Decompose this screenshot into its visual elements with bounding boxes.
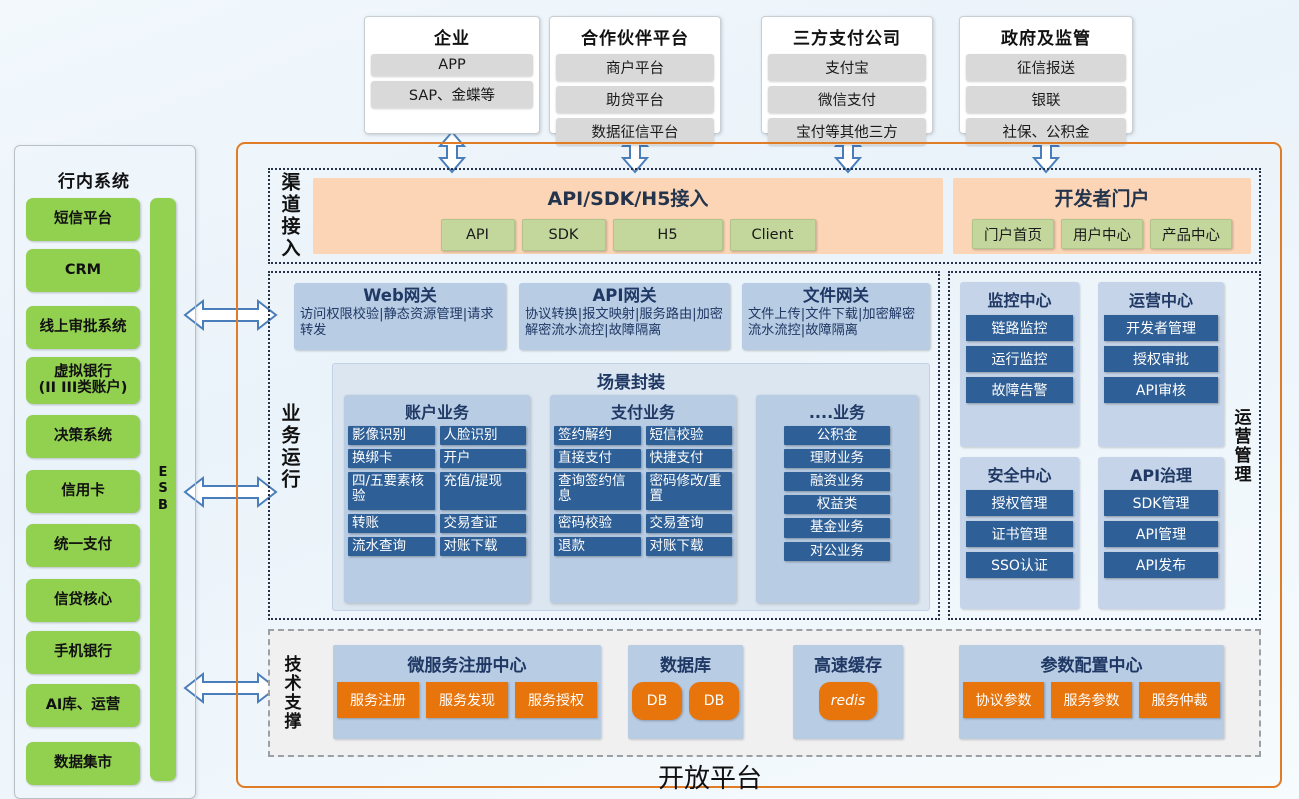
business-chip[interactable]: 快捷支付 bbox=[646, 449, 733, 468]
external-party-item[interactable]: 银联 bbox=[966, 86, 1126, 113]
business-chip[interactable]: 交易查证 bbox=[440, 514, 527, 533]
database-icon[interactable]: DB bbox=[689, 682, 739, 720]
external-party-item[interactable]: 社保、公积金 bbox=[966, 118, 1126, 145]
external-party-title: 合作伙伴平台 bbox=[581, 24, 689, 49]
internal-system-label: 信用卡 bbox=[61, 484, 105, 500]
internal-system-6[interactable]: 统一支付 bbox=[26, 524, 140, 567]
tech-chip[interactable]: 服务注册 bbox=[337, 682, 419, 718]
internal-system-label: 手机银行 bbox=[54, 645, 112, 661]
business-chip[interactable]: 理财业务 bbox=[784, 449, 890, 468]
channel-access-label: 渠道接入 bbox=[276, 172, 304, 260]
api-sdk-h5-access-card: API/SDK/H5接入 API SDK H5 Client bbox=[313, 178, 943, 254]
gateway-card-web[interactable]: Web网关 访问权限校验|静态资源管理|请求转发 bbox=[294, 283, 506, 350]
internal-system-1[interactable]: CRM bbox=[26, 249, 140, 292]
business-chip[interactable]: 密码校验 bbox=[554, 514, 641, 533]
business-chip[interactable]: 短信校验 bbox=[646, 426, 733, 445]
external-party-title: 企业 bbox=[434, 24, 470, 49]
ops-card-operations: 运营中心 开发者管理 授权审批 API审核 bbox=[1098, 282, 1224, 447]
external-party-card-3[interactable]: 政府及监管 征信报送 银联 社保、公积金 bbox=[959, 16, 1133, 134]
gateway-card-file[interactable]: 文件网关 文件上传|文件下载|加密解密流水流控|故障隔离 bbox=[742, 283, 930, 350]
developer-portal-title: 开发者门户 bbox=[953, 184, 1251, 211]
external-party-item[interactable]: 数据征信平台 bbox=[556, 118, 714, 145]
internal-system-label: CRM bbox=[65, 263, 101, 279]
tech-card-title: 微服务注册中心 bbox=[337, 651, 597, 676]
esb-bus[interactable]: E S B bbox=[150, 198, 176, 781]
external-party-item[interactable]: SAP、金蝶等 bbox=[371, 81, 533, 108]
channel-chip-client[interactable]: Client bbox=[730, 219, 816, 251]
internal-system-2[interactable]: 线上审批系统 bbox=[26, 306, 140, 349]
channel-chip-sdk[interactable]: SDK bbox=[522, 219, 606, 251]
internal-system-label: 数据集市 bbox=[54, 756, 112, 772]
ops-card-title: 安全中心 bbox=[966, 462, 1073, 486]
portal-chip-home[interactable]: 门户首页 bbox=[972, 219, 1054, 249]
tech-card-cache: 高速缓存 redis bbox=[793, 645, 903, 739]
tech-card-title: 参数配置中心 bbox=[963, 651, 1220, 676]
esb-label-s: S bbox=[158, 481, 167, 497]
internal-system-8[interactable]: 手机银行 bbox=[26, 631, 140, 674]
gateway-title: API网关 bbox=[525, 286, 724, 306]
business-card-title: 支付业务 bbox=[554, 399, 732, 423]
esb-label-e: E bbox=[159, 465, 168, 481]
developer-portal-card: 开发者门户 门户首页 用户中心 产品中心 bbox=[953, 178, 1251, 254]
business-chip[interactable]: 四/五要素核验 bbox=[348, 472, 435, 510]
external-party-item[interactable]: 支付宝 bbox=[768, 54, 926, 81]
business-chip[interactable]: 密码修改/重置 bbox=[646, 472, 733, 510]
tech-card-microservice-registry: 微服务注册中心 服务注册 服务发现 服务授权 bbox=[333, 645, 601, 739]
channel-chip-api[interactable]: API bbox=[441, 219, 515, 251]
ops-management-label: 运营管理 bbox=[1228, 386, 1254, 506]
external-party-card-0[interactable]: 企业 APP SAP、金蝶等 bbox=[364, 16, 540, 134]
business-chip[interactable]: 交易查询 bbox=[646, 514, 733, 533]
external-party-item[interactable]: APP bbox=[371, 54, 533, 76]
esb-label-b: B bbox=[158, 498, 168, 514]
internal-system-label: 统一支付 bbox=[54, 538, 112, 554]
ops-chip[interactable]: API管理 bbox=[1104, 521, 1218, 547]
business-card-other: ....业务 公积金 理财业务 融资业务 权益类 基金业务 对公业务 bbox=[756, 395, 918, 603]
portal-chip-user-center[interactable]: 用户中心 bbox=[1061, 219, 1143, 249]
ops-chip[interactable]: API发布 bbox=[1104, 552, 1218, 578]
business-chip[interactable]: 转账 bbox=[348, 514, 435, 533]
redis-icon[interactable]: redis bbox=[819, 682, 877, 720]
database-icon[interactable]: DB bbox=[632, 682, 682, 720]
gateway-desc: 访问权限校验|静态资源管理|请求转发 bbox=[300, 307, 500, 339]
tech-card-title: 数据库 bbox=[632, 651, 739, 676]
business-chip[interactable]: 对公业务 bbox=[784, 542, 890, 561]
internal-system-7[interactable]: 信贷核心 bbox=[26, 579, 140, 622]
ops-chip[interactable]: SSO认证 bbox=[966, 552, 1073, 578]
external-party-title: 三方支付公司 bbox=[793, 24, 901, 49]
tech-chip[interactable]: 服务参数 bbox=[1051, 682, 1132, 718]
business-card-account: 账户业务 影像识别 换绑卡 四/五要素核验 转账 流水查询 人脸识别 开户 充值… bbox=[344, 395, 530, 603]
api-sdk-h5-title: API/SDK/H5接入 bbox=[313, 184, 943, 211]
business-chip[interactable]: 权益类 bbox=[784, 495, 890, 514]
ops-chip[interactable]: 开发者管理 bbox=[1104, 315, 1218, 341]
gateway-desc: 协议转换|报文映射|服务路由|加密解密流水流控|故障隔离 bbox=[525, 307, 724, 339]
tech-support-label: 技术支撑 bbox=[278, 638, 304, 748]
business-card-payment: 支付业务 签约解约 直接支付 查询签约信息 密码校验 退款 短信校验 快捷支付 … bbox=[550, 395, 736, 603]
channel-chip-h5[interactable]: H5 bbox=[613, 219, 723, 251]
portal-chip-product-center[interactable]: 产品中心 bbox=[1150, 219, 1232, 249]
business-chip[interactable]: 影像识别 bbox=[348, 426, 435, 445]
business-chip[interactable]: 签约解约 bbox=[554, 426, 641, 445]
external-party-item[interactable]: 助贷平台 bbox=[556, 86, 714, 113]
ops-chip[interactable]: 授权审批 bbox=[1104, 346, 1218, 372]
internal-system-10[interactable]: 数据集市 bbox=[26, 742, 140, 785]
internal-system-label: 决策系统 bbox=[54, 429, 112, 445]
ops-card-title: API治理 bbox=[1104, 462, 1218, 486]
scene-encapsulation-title: 场景封装 bbox=[333, 368, 929, 393]
ops-card-title: 运营中心 bbox=[1104, 287, 1218, 311]
business-chip[interactable]: 融资业务 bbox=[784, 472, 890, 491]
tech-chip[interactable]: 服务发现 bbox=[426, 682, 508, 718]
tech-card-database: 数据库 DB DB bbox=[628, 645, 743, 739]
ops-chip[interactable]: API审核 bbox=[1104, 377, 1218, 403]
internal-system-label: 短信平台 bbox=[54, 212, 112, 228]
ops-card-title: 监控中心 bbox=[966, 287, 1073, 311]
business-chip[interactable]: 充值/提现 bbox=[440, 472, 527, 510]
ops-chip[interactable]: 证书管理 bbox=[966, 521, 1073, 547]
tech-chip[interactable]: 服务授权 bbox=[515, 682, 597, 718]
business-chip[interactable]: 人脸识别 bbox=[440, 426, 527, 445]
internal-system-label: 虚拟银行 (II III类账户) bbox=[39, 365, 128, 396]
external-party-item[interactable]: 微信支付 bbox=[768, 86, 926, 113]
business-running-label: 业务运行 bbox=[276, 382, 304, 512]
tech-chip[interactable]: 协议参数 bbox=[963, 682, 1044, 718]
internal-system-label: AI库、运营 bbox=[46, 698, 121, 714]
internal-system-5[interactable]: 信用卡 bbox=[26, 470, 140, 513]
external-party-item[interactable]: 宝付等其他三方 bbox=[768, 118, 926, 145]
internal-system-0[interactable]: 短信平台 bbox=[26, 198, 140, 241]
ops-chip[interactable]: 运行监控 bbox=[966, 346, 1073, 372]
business-chip[interactable]: 开户 bbox=[440, 449, 527, 468]
tech-card-title: 高速缓存 bbox=[797, 651, 899, 676]
ops-card-security: 安全中心 授权管理 证书管理 SSO认证 bbox=[960, 457, 1079, 609]
external-party-card-2[interactable]: 三方支付公司 支付宝 微信支付 宝付等其他三方 bbox=[761, 16, 933, 134]
tech-card-config-center: 参数配置中心 协议参数 服务参数 服务仲裁 bbox=[959, 645, 1224, 739]
business-chip[interactable]: 直接支付 bbox=[554, 449, 641, 468]
internal-system-3[interactable]: 虚拟银行 (II III类账户) bbox=[26, 357, 140, 404]
business-chip[interactable]: 查询签约信息 bbox=[554, 472, 641, 510]
ops-chip[interactable]: 故障告警 bbox=[966, 377, 1073, 403]
internal-system-label: 信贷核心 bbox=[54, 593, 112, 609]
internal-system-label: 线上审批系统 bbox=[40, 320, 127, 336]
gateway-title: Web网关 bbox=[300, 286, 500, 306]
business-chip[interactable]: 换绑卡 bbox=[348, 449, 435, 468]
business-chip[interactable]: 流水查询 bbox=[348, 537, 435, 556]
business-card-title: 账户业务 bbox=[348, 399, 526, 423]
internal-system-4[interactable]: 决策系统 bbox=[26, 415, 140, 458]
internal-system-9[interactable]: AI库、运营 bbox=[26, 684, 140, 727]
business-chip[interactable]: 公积金 bbox=[784, 426, 890, 445]
internal-systems-title: 行内系统 bbox=[24, 167, 164, 192]
business-chip[interactable]: 基金业务 bbox=[784, 518, 890, 537]
business-chip[interactable]: 对账下载 bbox=[440, 537, 527, 556]
ops-chip[interactable]: 授权管理 bbox=[966, 490, 1073, 516]
ops-card-api-governance: API治理 SDK管理 API管理 API发布 bbox=[1098, 457, 1224, 609]
tech-chip[interactable]: 服务仲裁 bbox=[1139, 682, 1220, 718]
gateway-desc: 文件上传|文件下载|加密解密流水流控|故障隔离 bbox=[748, 307, 924, 339]
external-party-item[interactable]: 商户平台 bbox=[556, 54, 714, 81]
external-party-card-1[interactable]: 合作伙伴平台 商户平台 助贷平台 数据征信平台 bbox=[549, 16, 721, 134]
business-chip[interactable]: 退款 bbox=[554, 537, 641, 556]
external-party-title: 政府及监管 bbox=[1001, 24, 1091, 49]
gateway-card-api[interactable]: API网关 协议转换|报文映射|服务路由|加密解密流水流控|故障隔离 bbox=[519, 283, 730, 350]
gateway-title: 文件网关 bbox=[748, 286, 924, 306]
ops-chip[interactable]: 链路监控 bbox=[966, 315, 1073, 341]
ops-chip[interactable]: SDK管理 bbox=[1104, 490, 1218, 516]
business-card-title: ....业务 bbox=[760, 399, 914, 423]
ops-card-monitoring: 监控中心 链路监控 运行监控 故障告警 bbox=[960, 282, 1079, 447]
external-party-item[interactable]: 征信报送 bbox=[966, 54, 1126, 81]
open-platform-title: 开放平台 bbox=[560, 758, 860, 795]
business-chip[interactable]: 对账下载 bbox=[646, 537, 733, 556]
